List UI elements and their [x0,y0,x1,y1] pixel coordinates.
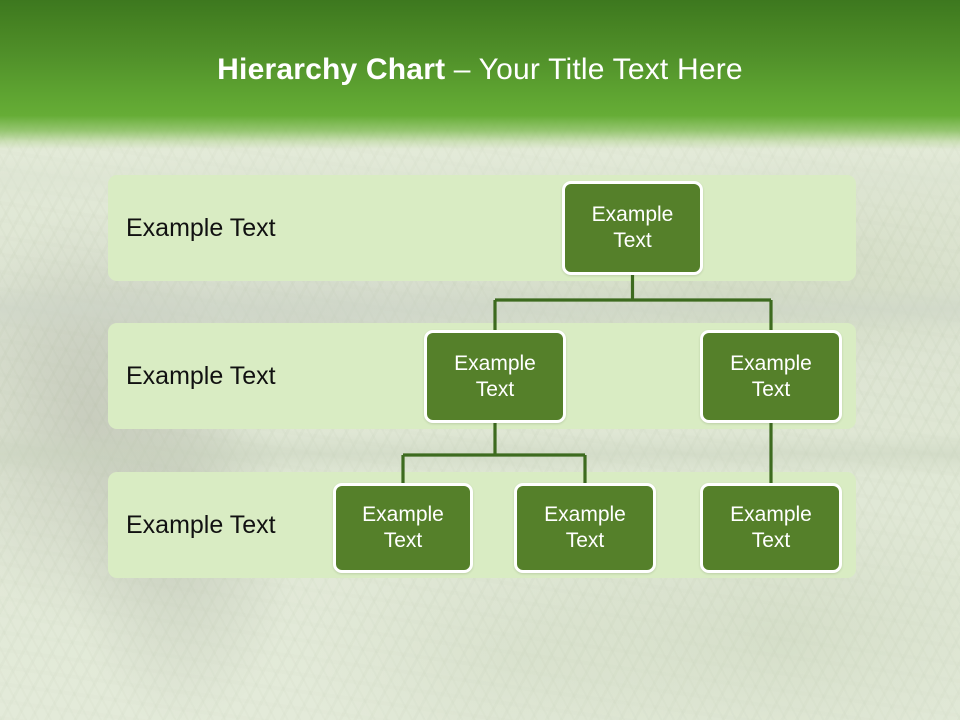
node-n2-line2: Text [752,378,791,401]
node-n2-label: ExampleText [730,351,812,403]
node-n1-line1: Example [454,352,536,375]
level-label-1: Example Text [126,213,276,243]
page-title-strong: Hierarchy Chart [217,53,445,86]
node-n3-line1: Example [362,503,444,526]
node-n5[interactable]: ExampleText [700,483,842,573]
node-n0-line1: Example [592,203,674,226]
page-title-rest: – Your Title Text Here [445,53,743,86]
node-n3[interactable]: ExampleText [333,483,473,573]
node-n3-line2: Text [384,529,423,552]
node-n4-line2: Text [566,529,605,552]
node-n2[interactable]: ExampleText [700,330,842,423]
node-n3-label: ExampleText [362,502,444,554]
level-band-1[interactable]: Example Text [108,175,856,281]
level-label-2: Example Text [126,361,276,391]
node-n2-line1: Example [730,352,812,375]
node-n4-line1: Example [544,503,626,526]
node-n5-label: ExampleText [730,502,812,554]
node-n0-line2: Text [613,229,652,252]
node-n1-line2: Text [476,378,515,401]
node-n1-label: ExampleText [454,351,536,403]
slide-canvas: Hierarchy Chart – Your Title Text Here E… [0,0,960,720]
node-n0[interactable]: ExampleText [562,181,703,275]
node-n4-label: ExampleText [544,502,626,554]
node-n1[interactable]: ExampleText [424,330,566,423]
node-n5-line1: Example [730,503,812,526]
level-label-3: Example Text [126,510,276,540]
page-title: Hierarchy Chart – Your Title Text Here [0,52,960,88]
node-n0-label: ExampleText [592,202,674,254]
node-n5-line2: Text [752,529,791,552]
node-n4[interactable]: ExampleText [514,483,656,573]
